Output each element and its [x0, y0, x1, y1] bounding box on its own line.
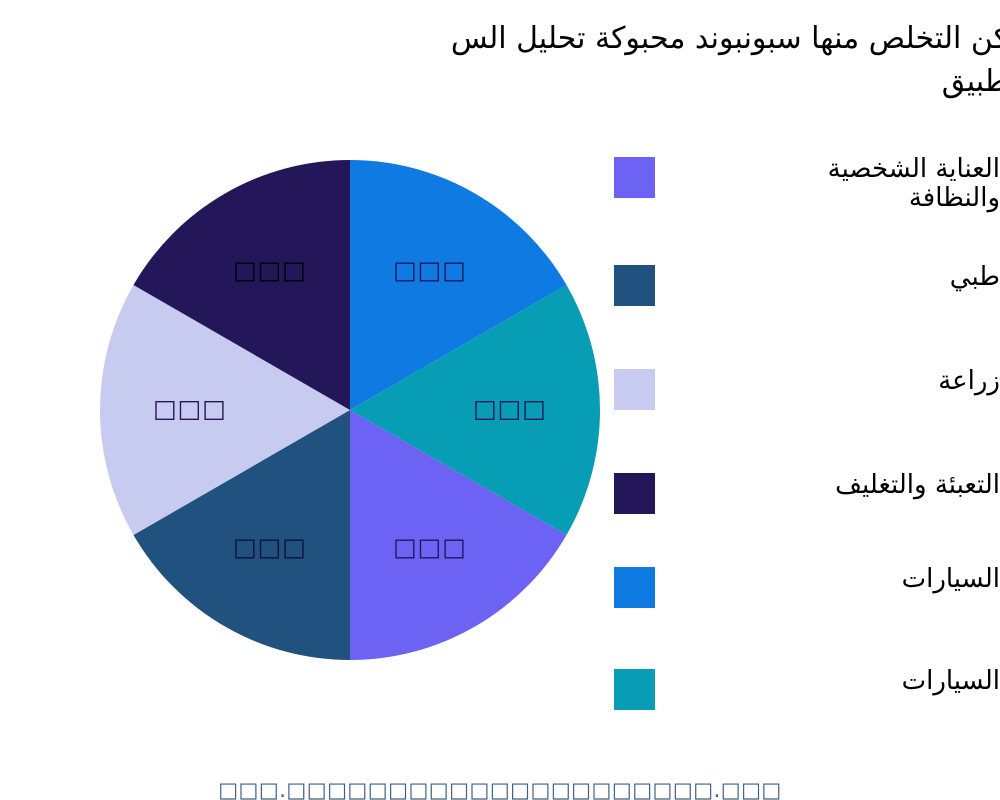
- pie-slice-label: □□□: [393, 255, 467, 284]
- legend-color-swatch: [614, 157, 655, 198]
- legend-item-label: السيارات: [655, 565, 1000, 594]
- footer-watermark: □□□.□□□□□□□□□□□□□□□□□□□□□.□□□: [0, 778, 1000, 800]
- pie-slice-label: □□□: [153, 394, 227, 423]
- pie-chart: □□□□□□□□□□□□□□□□□□: [100, 160, 600, 660]
- legend-item[interactable]: التعبئة والتغليف: [614, 471, 1000, 514]
- legend-color-swatch: [614, 567, 655, 608]
- legend-item[interactable]: زراعة: [614, 367, 1000, 410]
- legend-item-label: السيارات: [655, 667, 1000, 696]
- pie-slice-label: □□□: [393, 533, 467, 562]
- legend-item[interactable]: العناية الشخصية والنظافة: [614, 155, 1000, 213]
- legend-item-label: العناية الشخصية والنظافة: [655, 155, 1000, 213]
- pie-slice-label: □□□: [233, 255, 307, 284]
- chart-page: يمكن التخلص منها سبونبوند محبوكة تحليل ا…: [0, 0, 1000, 800]
- legend-item[interactable]: طبي: [614, 263, 1000, 306]
- legend-color-swatch: [614, 265, 655, 306]
- page-title: يمكن التخلص منها سبونبوند محبوكة تحليل ا…: [26, 18, 1000, 103]
- pie-slice-label: □□□: [233, 533, 307, 562]
- pie-chart-svg: □□□□□□□□□□□□□□□□□□: [100, 160, 600, 660]
- legend-item-label: التعبئة والتغليف: [655, 471, 1000, 500]
- pie-slice-label: □□□: [473, 394, 547, 423]
- legend-color-swatch: [614, 369, 655, 410]
- legend-item-label: طبي: [655, 263, 1000, 292]
- legend-color-swatch: [614, 473, 655, 514]
- legend-color-swatch: [614, 669, 655, 710]
- legend-item[interactable]: السيارات: [614, 565, 1000, 608]
- legend-item-label: زراعة: [655, 367, 1000, 396]
- legend-item[interactable]: السيارات: [614, 667, 1000, 710]
